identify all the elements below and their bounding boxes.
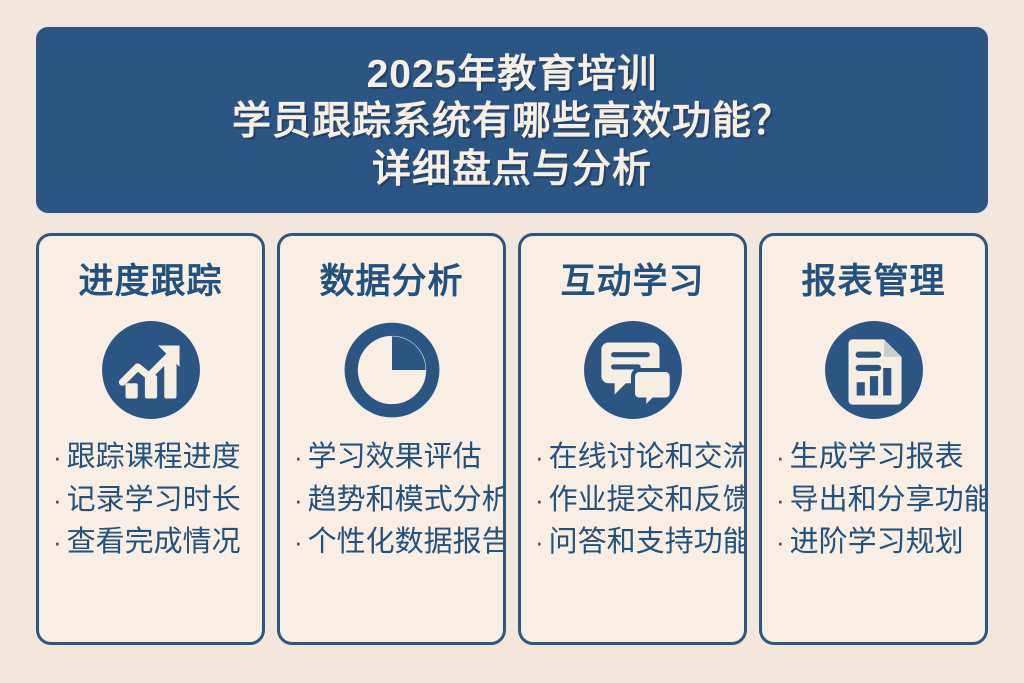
card-bullet-list: · 跟踪课程进度 · 记录学习时长 · 查看完成情况 (39, 441, 262, 569)
list-item-label: 进阶学习规划 (790, 526, 964, 560)
bullet-marker: · (535, 529, 544, 555)
pie-chart-icon (341, 319, 443, 421)
list-item: · 生成学习报表 (776, 441, 985, 475)
list-item: · 趋势和模式分析 (294, 484, 503, 518)
bullet-marker: · (53, 529, 62, 555)
banner-title-line-2: 学员跟踪系统有哪些高效功能？ (232, 98, 792, 145)
list-item: · 跟踪课程进度 (53, 441, 262, 475)
card-title: 进度跟踪 (78, 253, 222, 304)
list-item: · 进阶学习规划 (776, 526, 985, 560)
list-item-label: 学习效果评估 (308, 441, 482, 475)
list-item-label: 作业提交和反馈 (549, 484, 744, 518)
list-item-label: 趋势和模式分析 (308, 484, 503, 518)
bullet-marker: · (294, 444, 303, 470)
document-report-icon (823, 319, 925, 421)
bullet-marker: · (776, 487, 785, 513)
feature-card-progress-tracking[interactable]: 进度跟踪 · 跟踪课程进度 · 记录学习时长 (36, 233, 265, 645)
list-item: · 记录学习时长 (53, 484, 262, 518)
card-bullet-list: · 生成学习报表 · 导出和分享功能 · 进阶学习规划 (762, 441, 985, 569)
bullet-marker: · (776, 529, 785, 555)
feature-card-report-management[interactable]: 报表管理 · 生成学习报表 (759, 233, 988, 645)
list-item: · 在线讨论和交流 (535, 441, 744, 475)
chat-bubbles-icon (582, 319, 684, 421)
list-item-label: 问答和支持功能 (549, 526, 744, 560)
list-item-label: 记录学习时长 (67, 484, 241, 518)
banner-title-line-3: 详细盘点与分析 (372, 146, 652, 193)
bar-chart-growth-icon (100, 319, 202, 421)
card-title: 互动学习 (560, 253, 704, 304)
card-bullet-list: · 在线讨论和交流 · 作业提交和反馈 · 问答和支持功能 (521, 441, 744, 569)
list-item: · 查看完成情况 (53, 526, 262, 560)
bullet-marker: · (53, 487, 62, 513)
banner-title-line-1: 2025年教育培训 (367, 51, 658, 98)
list-item-label: 跟踪课程进度 (67, 441, 241, 475)
card-bullet-list: · 学习效果评估 · 趋势和模式分析 · 个性化数据报告 (280, 441, 503, 569)
bullet-marker: · (535, 444, 544, 470)
feature-card-data-analysis[interactable]: 数据分析 · 学习效果评估 · 趋势和模式分析 · 个性化数据报告 (277, 233, 506, 645)
bullet-marker: · (294, 529, 303, 555)
bullet-marker: · (535, 487, 544, 513)
header-banner: 2025年教育培训 学员跟踪系统有哪些高效功能？ 详细盘点与分析 (36, 27, 988, 213)
bullet-marker: · (53, 444, 62, 470)
list-item: · 学习效果评估 (294, 441, 503, 475)
card-title: 报表管理 (801, 253, 945, 304)
list-item: · 导出和分享功能 (776, 484, 985, 518)
bullet-marker: · (776, 444, 785, 470)
list-item-label: 个性化数据报告 (308, 526, 503, 560)
list-item-label: 查看完成情况 (67, 526, 241, 560)
list-item-label: 在线讨论和交流 (549, 441, 744, 475)
feature-cards-row: 进度跟踪 · 跟踪课程进度 · 记录学习时长 (36, 233, 988, 645)
feature-card-interactive-learning[interactable]: 互动学习 · 在线讨论和交流 · 作业提交和反馈 · (518, 233, 747, 645)
list-item: · 作业提交和反馈 (535, 484, 744, 518)
list-item: · 个性化数据报告 (294, 526, 503, 560)
list-item-label: 导出和分享功能 (790, 484, 985, 518)
bullet-marker: · (294, 487, 303, 513)
card-title: 数据分析 (319, 253, 463, 304)
list-item-label: 生成学习报表 (790, 441, 964, 475)
list-item: · 问答和支持功能 (535, 526, 744, 560)
